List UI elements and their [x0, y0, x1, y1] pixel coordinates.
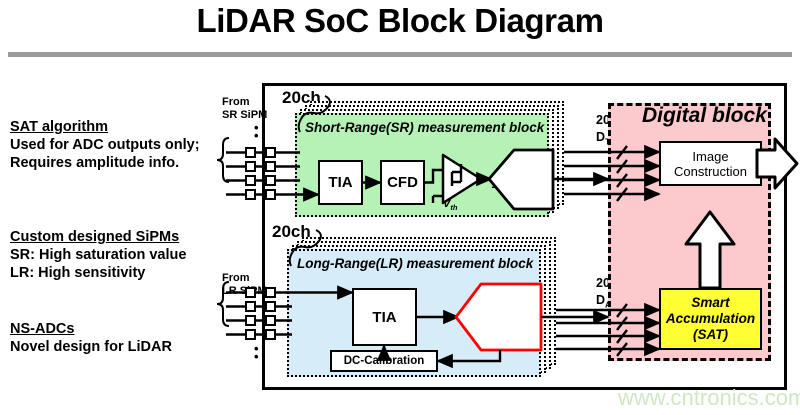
image-construction-line: Image	[692, 149, 728, 164]
input-label-sr-sipm: From SR SiPM	[222, 96, 267, 122]
lr-block-title: Long-Range(LR) measurement block	[297, 256, 533, 271]
sr-channel-ellipsis: • •	[254, 124, 259, 140]
sat-line: Accumulation	[666, 311, 755, 326]
input-label-line: SR SiPM	[222, 109, 267, 121]
note-heading: SAT algorithm	[10, 118, 200, 136]
vth-subscript: th	[450, 203, 457, 212]
bus-symbol: D	[596, 130, 605, 144]
sat-line: Smart	[691, 295, 729, 310]
ellipsis-dot: •	[254, 349, 259, 364]
image-construction-line: Construction	[674, 164, 747, 179]
smart-accumulation-block: Smart Accumulation (SAT)	[659, 288, 762, 350]
note-line: LR: High sensitivity	[10, 264, 186, 282]
sr-tdc-block-label: 12b TDC	[491, 175, 548, 191]
image-construction-block: Image Construction	[659, 141, 762, 186]
note-line: Requires amplitude info.	[10, 154, 200, 172]
input-label-line: From	[222, 96, 250, 108]
note-line: Novel design for LiDAR	[10, 338, 172, 356]
watermark: www.cntronics.com	[618, 385, 800, 411]
note-line: SR: High saturation value	[10, 246, 186, 264]
note-heading: NS-ADCs	[10, 320, 172, 338]
adc-label-line: 400MS/s	[476, 289, 528, 304]
input-label-line: From	[222, 272, 250, 284]
adc-label-line: 5b NS-SAR	[468, 305, 537, 320]
sr-vth-label: Vth	[443, 198, 457, 212]
digital-block-title: Digital block	[642, 104, 767, 128]
sr-block-title: Short-Range(SR) measurement block	[305, 120, 544, 135]
lr-adc-block-label: 400MS/s 5b NS-SAR ADC	[459, 289, 545, 337]
page-title: LiDAR SoC Block Diagram	[0, 2, 800, 40]
note-custom-sipms: Custom designed SiPMs SR: High saturatio…	[10, 228, 186, 282]
sat-line: (SAT)	[693, 327, 728, 342]
sr-cfd-block: CFD	[380, 160, 425, 205]
sr-tia-block: TIA	[318, 160, 363, 205]
dc-calibration-block: DC-Calibration	[330, 350, 438, 372]
title-divider	[8, 52, 792, 57]
bus-symbol: D	[596, 293, 605, 307]
input-label-line: LR SiPM	[222, 285, 267, 297]
adc-label-line: ADC	[488, 321, 516, 336]
ellipsis-dot: •	[254, 128, 259, 143]
note-ns-adcs: NS-ADCs Novel design for LiDAR	[10, 320, 172, 356]
note-line: Used for ADC outputs only;	[10, 136, 200, 154]
diagram-canvas: LiDAR SoC Block Diagram SAT algorithm Us…	[0, 0, 800, 415]
lr-tia-block: TIA	[352, 288, 417, 346]
input-label-lr-sipm: From LR SiPM	[222, 272, 267, 298]
note-heading: Custom designed SiPMs	[10, 228, 186, 246]
note-sat-algorithm: SAT algorithm Used for ADC outputs only;…	[10, 118, 200, 172]
lr-channel-ellipsis: • •	[254, 345, 259, 361]
